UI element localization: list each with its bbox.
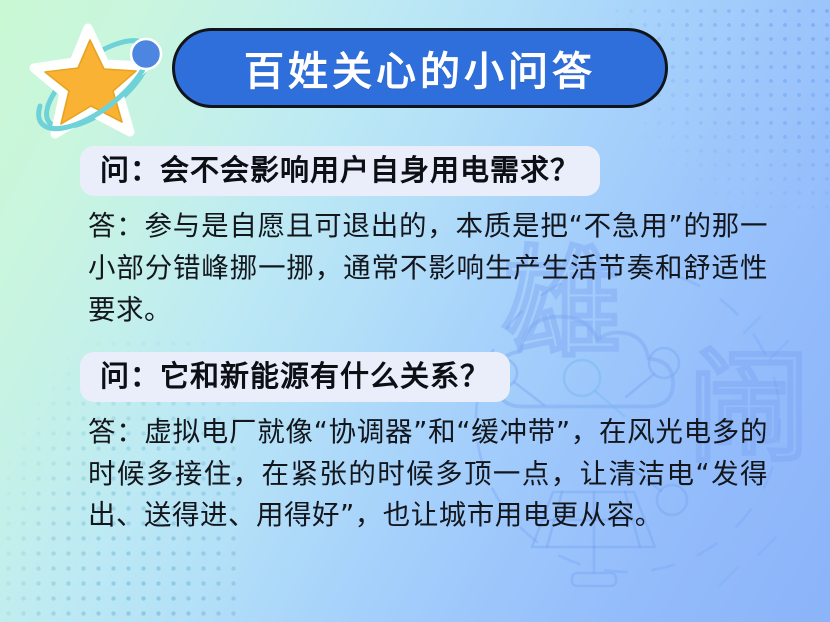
qa-block-1: 问：会不会影响用户自身用电需求？ 答：参与是自愿且可退出的，本质是把“不急用”的… xyxy=(0,146,830,332)
qa-section: 问：会不会影响用户自身用电需求？ 答：参与是自愿且可退出的，本质是把“不急用”的… xyxy=(0,132,830,537)
title-badge: 百姓关心的小问答 xyxy=(172,28,668,108)
question-bar-2: 问：它和新能源有什么关系？ xyxy=(80,352,510,402)
answer-text-1: 答：参与是自愿且可退出的，本质是把“不急用”的那一小部分错峰挪一挪，通常不影响生… xyxy=(88,206,768,331)
question-bar-1: 问：会不会影响用户自身用电需求？ xyxy=(80,146,600,196)
question-text-2: 问：它和新能源有什么关系？ xyxy=(100,359,490,393)
qa-block-2: 问：它和新能源有什么关系？ 答：虚拟电厂就像“协调器”和“缓冲带”，在风光电多的… xyxy=(0,352,830,538)
poster-header: 百姓关心的小问答 xyxy=(0,0,830,132)
poster-canvas: 雄 闹 百姓关心的小问答 xyxy=(0,0,830,622)
page-title: 百姓关心的小问答 xyxy=(244,39,596,97)
star-orbit-emblem-icon xyxy=(26,14,176,146)
answer-text-2: 答：虚拟电厂就像“协调器”和“缓冲带”，在风光电多的时候多接住，在紧张的时候多顶… xyxy=(88,412,768,537)
question-text-1: 问：会不会影响用户自身用电需求？ xyxy=(100,153,580,187)
